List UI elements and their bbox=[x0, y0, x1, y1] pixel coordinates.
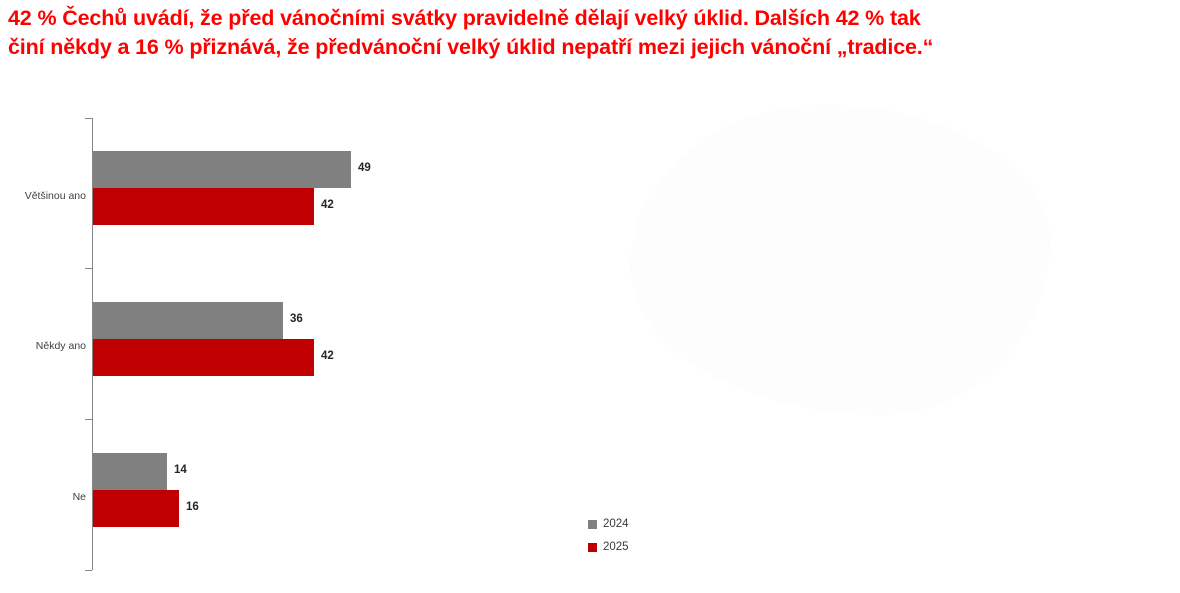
chart-title-line-2: činí někdy a 16 % přiznává, že předvánoč… bbox=[8, 33, 1174, 62]
axis-tick-0 bbox=[85, 118, 92, 119]
bar-2025-ne[interactable] bbox=[93, 490, 179, 527]
legend-swatch-icon-2024 bbox=[588, 520, 597, 529]
bar-value-label-2025-vetsinou-ano: 42 bbox=[321, 199, 334, 211]
axis-tick-1 bbox=[85, 268, 92, 269]
bar-value-label-2024-ne: 14 bbox=[174, 464, 187, 476]
bar-row-2024: 36 bbox=[93, 302, 1093, 339]
bar-row-2025: 42 bbox=[93, 339, 1093, 376]
bar-group-vetsinou-ano: 49 42 bbox=[93, 151, 1093, 225]
bar-2025-vetsinou-ano[interactable] bbox=[93, 188, 314, 225]
axis-tick-3 bbox=[85, 570, 92, 571]
bar-2025-nekdy-ano[interactable] bbox=[93, 339, 314, 376]
chart-title: 42 % Čechů uvádí, že před vánočními svát… bbox=[8, 4, 1174, 62]
bar-row-2025: 42 bbox=[93, 188, 1093, 225]
category-label-0: Většinou ano bbox=[0, 190, 86, 202]
category-label-1: Někdy ano bbox=[0, 340, 86, 352]
bar-value-label-2024-nekdy-ano: 36 bbox=[290, 313, 303, 325]
bar-value-label-2025-ne: 16 bbox=[186, 501, 199, 513]
chart-title-line-1: 42 % Čechů uvádí, že před vánočními svát… bbox=[8, 4, 1174, 33]
bar-row-2024: 49 bbox=[93, 151, 1093, 188]
bar-row-2024: 14 bbox=[93, 453, 1093, 490]
category-label-2: Ne bbox=[0, 491, 86, 503]
legend-swatch-icon-2025 bbox=[588, 543, 597, 552]
legend-label-2024: 2024 bbox=[603, 519, 629, 531]
bar-group-nekdy-ano: 36 42 bbox=[93, 302, 1093, 376]
legend-item-2024[interactable]: 2024 bbox=[588, 513, 629, 536]
chart-legend: 2024 2025 bbox=[588, 513, 629, 559]
legend-item-2025[interactable]: 2025 bbox=[588, 536, 629, 559]
axis-tick-2 bbox=[85, 419, 92, 420]
bar-2024-vetsinou-ano[interactable] bbox=[93, 151, 351, 188]
plot-area: 49 42 36 42 14 bbox=[93, 118, 1093, 570]
bar-2024-nekdy-ano[interactable] bbox=[93, 302, 283, 339]
bar-value-label-2025-nekdy-ano: 42 bbox=[321, 350, 334, 362]
bar-value-label-2024-vetsinou-ano: 49 bbox=[358, 162, 371, 174]
bar-chart: Většinou ano Někdy ano Ne 49 42 36 42 bbox=[0, 100, 1180, 593]
bar-2024-ne[interactable] bbox=[93, 453, 167, 490]
legend-label-2025: 2025 bbox=[603, 542, 629, 554]
